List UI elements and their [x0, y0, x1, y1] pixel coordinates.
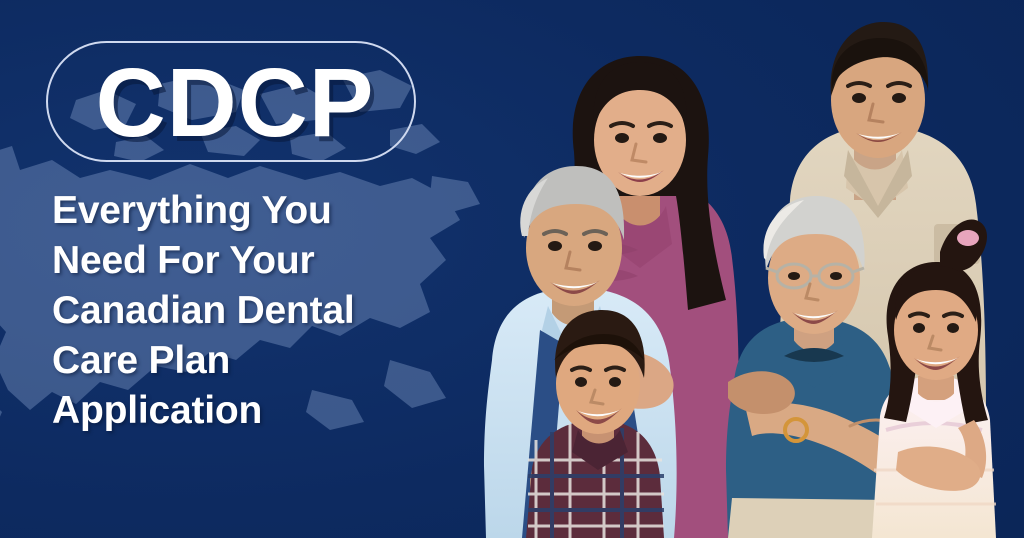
headline-line-3: Canadian Dental — [52, 286, 472, 336]
page-headline: Everything You Need For Your Canadian De… — [52, 186, 472, 436]
headline-line-1: Everything You — [52, 186, 472, 236]
headline-line-2: Need For Your — [52, 236, 472, 286]
family-group-photo — [478, 0, 1024, 538]
headline-line-5: Application — [52, 386, 472, 436]
logo-text-cdcp: CDCP — [70, 40, 400, 164]
headline-line-4: Care Plan — [52, 336, 472, 386]
cdcp-hero-banner: CDCP Everything You Need For Your Canadi… — [0, 0, 1024, 538]
